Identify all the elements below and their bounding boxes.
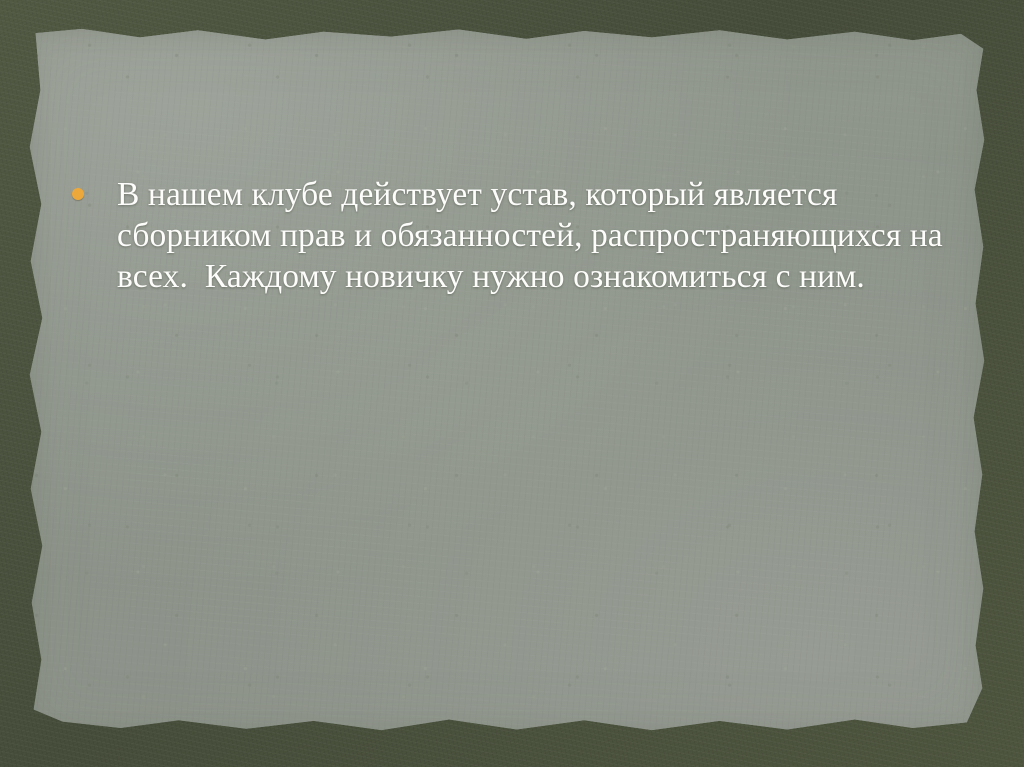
bullet-item-text: В нашем клубе действует устав, который я… — [117, 174, 948, 297]
round-bullet-icon — [72, 188, 84, 200]
bullet-list: В нашем клубе действует устав, который я… — [68, 174, 948, 297]
presentation-slide: В нашем клубе действует устав, который я… — [0, 0, 1024, 767]
list-item: В нашем клубе действует устав, который я… — [68, 174, 948, 297]
slide-content: В нашем клубе действует устав, который я… — [24, 26, 990, 738]
paper-sheet-background: В нашем клубе действует устав, который я… — [24, 26, 990, 738]
